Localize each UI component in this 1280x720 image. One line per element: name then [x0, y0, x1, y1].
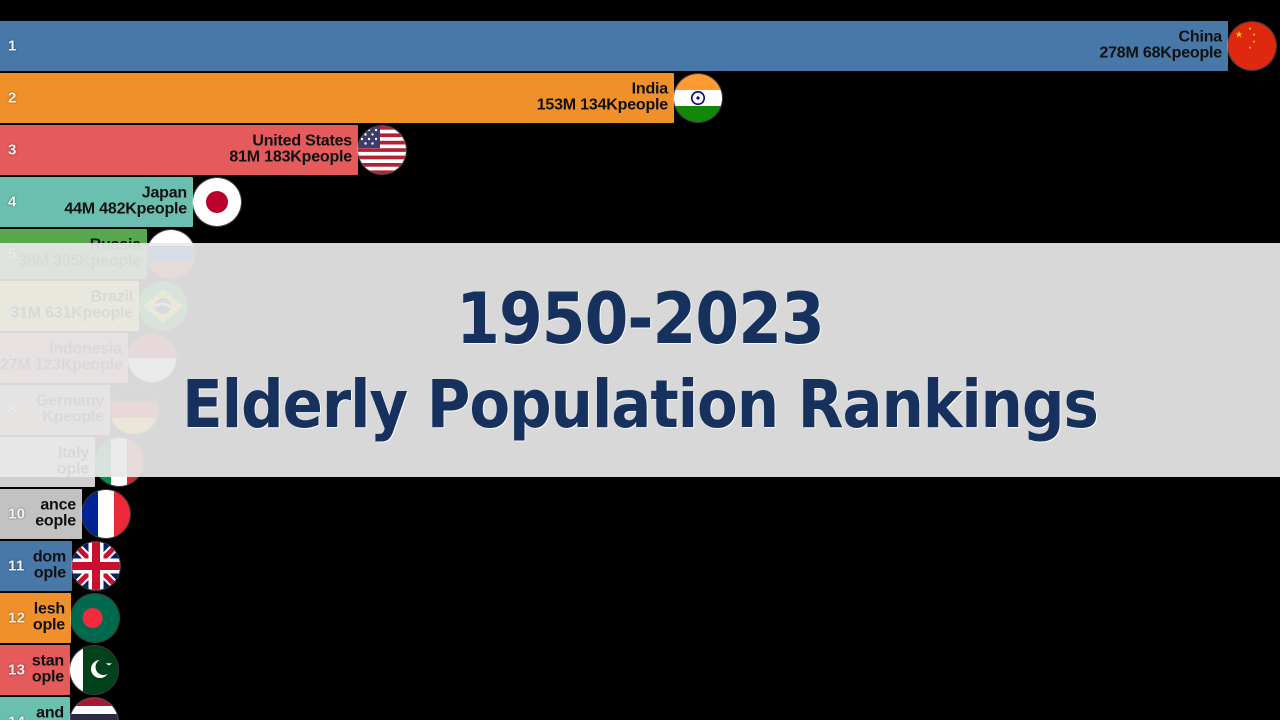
table-row[interactable]: 13stanople: [0, 645, 1280, 695]
country-name: and: [0, 706, 64, 720]
population-value: 44M 482Kpeople: [0, 202, 187, 218]
population-value: 81M 183Kpeople: [0, 150, 352, 166]
flag-icon-th: [70, 698, 118, 720]
country-name: dom: [0, 550, 66, 566]
country-name: Japan: [0, 186, 187, 202]
bar-label-group: India153M 134Kpeople: [0, 82, 668, 115]
population-value: ople: [0, 670, 64, 686]
video-frame: 1China278M 68Kpeople2India153M 134Kpeopl…: [0, 0, 1280, 720]
title-overlay-panel: 1950-2023 Elderly Population Rankings: [0, 243, 1280, 477]
flag-icon-cn: [1228, 22, 1276, 70]
country-name: United States: [0, 134, 352, 150]
table-row[interactable]: 4Japan44M 482Kpeople: [0, 177, 1280, 227]
bar-label-group: Japan44M 482Kpeople: [0, 186, 187, 219]
bar-label-group: leshople: [0, 602, 65, 635]
title-year-range: 1950-2023: [456, 278, 824, 360]
table-row[interactable]: 2India153M 134Kpeople: [0, 73, 1280, 123]
table-row[interactable]: 10anceeople: [0, 489, 1280, 539]
flag-icon-in: [674, 74, 722, 122]
country-name: lesh: [0, 602, 65, 618]
table-row[interactable]: 11domople: [0, 541, 1280, 591]
bar-label-group: anceeople: [0, 498, 76, 531]
country-name: stan: [0, 654, 64, 670]
population-value: 278M 68Kpeople: [0, 46, 1222, 62]
table-row[interactable]: 3United States81M 183Kpeople: [0, 125, 1280, 175]
bar-label-group: domople: [0, 550, 66, 583]
table-row[interactable]: 1China278M 68Kpeople: [0, 21, 1280, 71]
bar-label-group: China278M 68Kpeople: [0, 30, 1222, 63]
population-value: eople: [0, 514, 76, 530]
bar-label-group: United States81M 183Kpeople: [0, 134, 352, 167]
flag-icon-bd: [71, 594, 119, 642]
title-main: Elderly Population Rankings: [182, 366, 1098, 443]
flag-icon-us: [358, 126, 406, 174]
bar-label-group: andople: [0, 706, 64, 720]
population-value: ople: [0, 618, 65, 634]
country-name: China: [0, 30, 1222, 46]
flag-icon-jp: [193, 178, 241, 226]
table-row[interactable]: 14andople: [0, 697, 1280, 720]
bar-label-group: stanople: [0, 654, 64, 687]
table-row[interactable]: 12leshople: [0, 593, 1280, 643]
flag-icon-pk: [70, 646, 118, 694]
flag-icon-fr: [82, 490, 130, 538]
country-name: India: [0, 82, 668, 98]
population-value: ople: [0, 566, 66, 582]
population-value: 153M 134Kpeople: [0, 98, 668, 114]
flag-icon-gb: [72, 542, 120, 590]
country-name: ance: [0, 498, 76, 514]
